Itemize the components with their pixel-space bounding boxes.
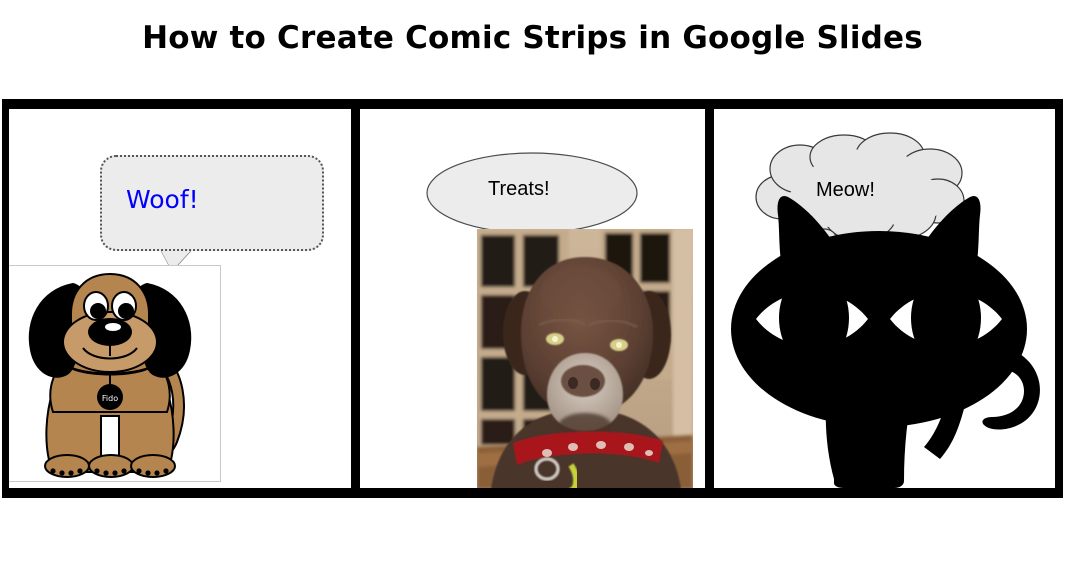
cartoon-dog-icon: Fido <box>9 266 220 481</box>
black-cat-icon <box>718 181 1055 488</box>
comic-panel-3[interactable]: Meow! <box>714 109 1055 488</box>
speech-balloon-woof[interactable]: Woof! <box>100 155 324 251</box>
comic-strip-frame: Woof! <box>2 99 1063 498</box>
dog-clipart-bounding-box[interactable]: Fido <box>9 265 221 482</box>
comic-panel-2[interactable]: Treats! <box>360 109 705 488</box>
svg-text:Fido: Fido <box>102 394 118 403</box>
comic-panel-1[interactable]: Woof! <box>9 109 351 488</box>
cat-clipart[interactable] <box>718 181 1055 488</box>
brown-dog-photograph <box>477 229 693 488</box>
page-title: How to Create Comic Strips in Google Sli… <box>0 20 1065 56</box>
dog-photo[interactable] <box>477 229 693 488</box>
speech-balloon-text: Treats! <box>488 178 550 201</box>
speech-balloon-text: Woof! <box>126 185 199 214</box>
